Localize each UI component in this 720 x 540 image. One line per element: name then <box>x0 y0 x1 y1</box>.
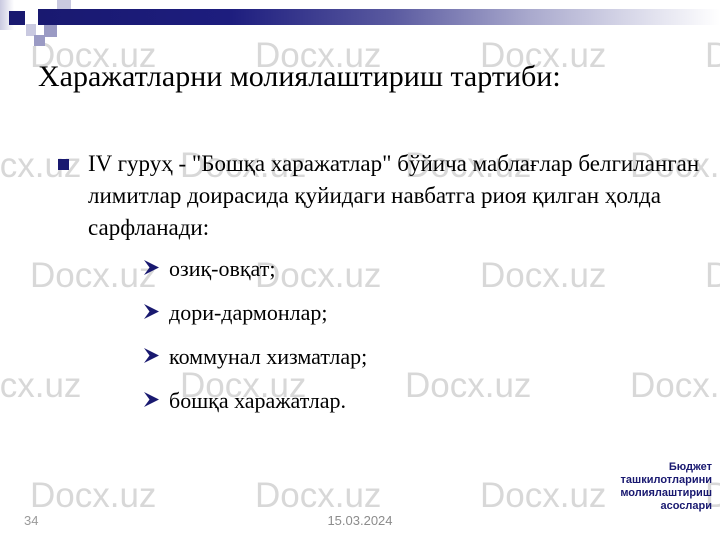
header-gradient-bar <box>38 9 720 25</box>
list-item-boshqa-xarajatlar: бошқа харажатлар. <box>139 386 704 416</box>
list-item-dori-darmonlar: дори-дармонлар; <box>139 298 704 328</box>
deco-square-6 <box>44 24 57 37</box>
list-item-ozik-ovqat: озиқ-овқат; <box>139 254 704 284</box>
body-content: IV гуруҳ - "Бошқа харажатлар" бўйича маб… <box>54 148 704 430</box>
deco-square-7 <box>34 35 45 46</box>
footer-note-line: Бюджет <box>512 461 712 474</box>
slide-canvas: Docx.uzDocx.uzDocx.uzDocx.uzDocx.uzDocx.… <box>0 0 720 540</box>
slide-header-decoration <box>0 0 720 46</box>
list-item-kommunal-xizmatlar: коммунал хизматлар; <box>139 342 704 372</box>
list-item-level2-label: дори-дармонлар; <box>169 300 327 325</box>
deco-square-2 <box>9 11 25 25</box>
title-block: Харажатларни молиялаштириш тартиби: <box>38 56 658 97</box>
square-bullet-icon <box>58 159 69 170</box>
footer-note-line: молиялаштириш <box>512 487 712 500</box>
list-item-level2-label: коммунал хизматлар; <box>169 344 367 369</box>
arrow-bullet-icon <box>142 258 162 278</box>
footer-note: Бюджет ташкилотларини молиялаштириш асос… <box>512 461 712 513</box>
watermark-docx-uz: Docx.uz <box>30 478 156 513</box>
footer-note-line: ташкилотларини <box>512 474 712 487</box>
slide-date: 15.03.2024 <box>0 513 720 528</box>
footer-note-line: асослари <box>512 500 712 513</box>
watermark-docx-uz: Docx.uz <box>705 258 720 293</box>
list-item-level2-label: бошқа харажатлар. <box>169 388 346 413</box>
page-title: Харажатларни молиялаштириш тартиби: <box>38 56 658 97</box>
arrow-bullet-icon <box>142 302 162 322</box>
arrow-bullet-icon <box>142 346 162 366</box>
sub-list: озиқ-овқат; дори-дармонлар; коммунал хиз… <box>54 254 704 416</box>
watermark-docx-uz: Docx.uz <box>255 478 381 513</box>
arrow-bullet-icon <box>142 390 162 410</box>
list-item-level1: IV гуруҳ - "Бошқа харажатлар" бўйича маб… <box>54 148 704 244</box>
list-item-level2-label: озиқ-овқат; <box>169 256 275 281</box>
list-item-level1-label: IV гуруҳ - "Бошқа харажатлар" бўйича маб… <box>88 151 699 240</box>
